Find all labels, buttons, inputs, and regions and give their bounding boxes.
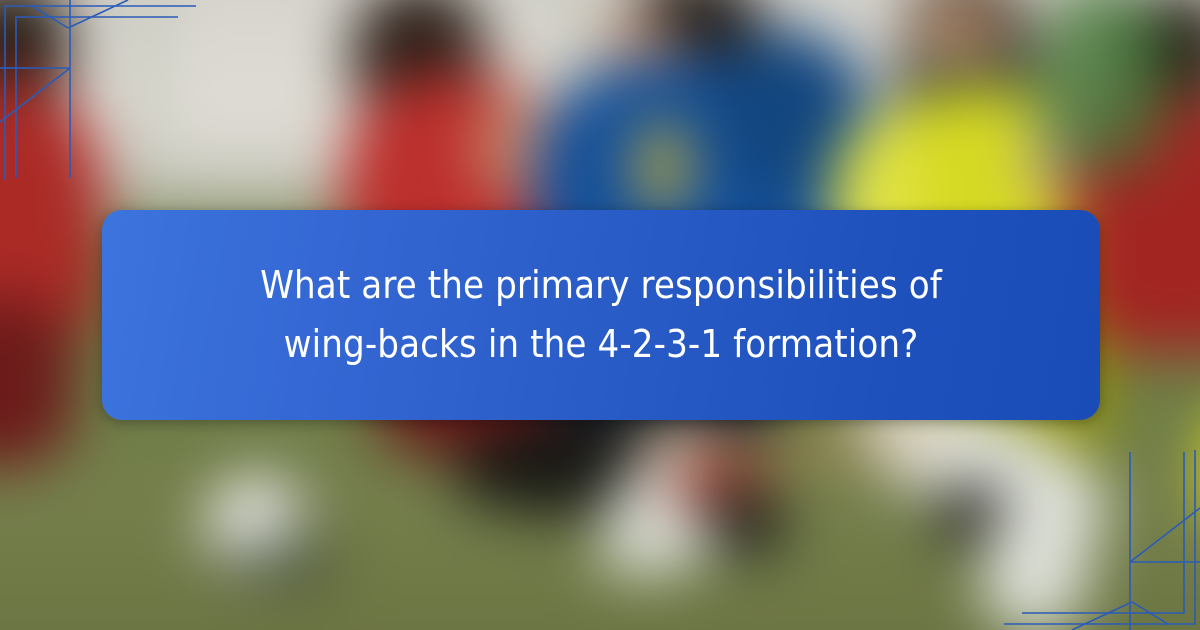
deco-bracket-outer-br	[1004, 450, 1195, 624]
screenshot-canvas: What are the primary responsibilities of…	[0, 0, 1200, 630]
soccer-ball-shadow	[217, 531, 340, 589]
deco-diagonal-lower-br	[1130, 508, 1200, 562]
corner-bracket-top-left	[0, 0, 250, 200]
deco-diagonal-lower-tl	[0, 68, 70, 122]
deco-diagonal-upper-br	[1072, 602, 1132, 630]
deco-bracket-inner-tl	[16, 17, 178, 178]
player-red-left-shorts	[0, 298, 74, 466]
deco-diagonal-upper-tl	[68, 0, 128, 28]
question-title: What are the primary responsibilities of…	[241, 256, 961, 374]
deco-bracket-outer-tl	[5, 6, 196, 180]
question-card: What are the primary responsibilities of…	[102, 210, 1100, 420]
foliage-patch	[1037, 0, 1171, 175]
field-highlight	[622, 415, 958, 471]
player-blue-number	[640, 128, 685, 206]
corner-bracket-bottom-right	[950, 430, 1200, 630]
deco-bracket-inner-br	[1022, 452, 1184, 613]
